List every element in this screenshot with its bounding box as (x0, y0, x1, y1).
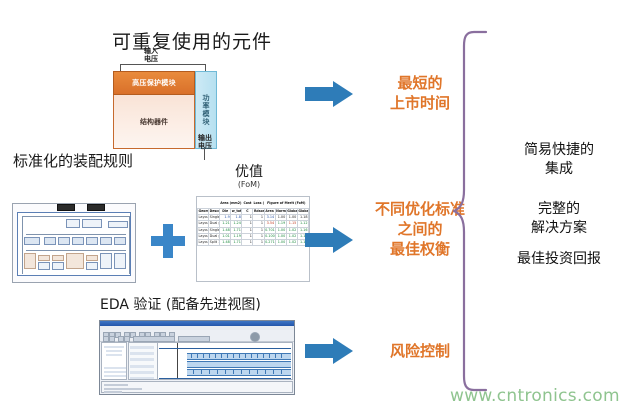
col-global-2: Global (297, 209, 308, 215)
cell: Single-phase high (209, 215, 220, 221)
brace-icon (452, 30, 492, 392)
cell: 1.18 (297, 215, 308, 221)
schematic-thumbnail[interactable] (12, 203, 136, 283)
table-group-header-row: Area (mm2) Cost Loss (mW) Figure of Meri… (198, 197, 309, 209)
fom-table: Area (mm2) Cost Loss (mW) Figure of Meri… (197, 197, 309, 246)
cell: 1.24 (231, 221, 242, 227)
benefit-line: 最佳投资回报 (498, 250, 620, 269)
fom-label: 优值 (FoM) (218, 161, 280, 189)
group-header-fom: Figure of Merit (FoM) (265, 201, 308, 205)
col-geometry: Geometry (198, 209, 209, 215)
cell: 1.71 (231, 227, 242, 233)
benefit-line: 简易快捷的 (498, 141, 620, 160)
cell: Layout 2 (198, 221, 209, 227)
eda-tool-window[interactable] (99, 320, 295, 395)
col-global-1: Global (286, 209, 297, 215)
benefit-line: 解决方案 (498, 219, 620, 238)
cell: 1 (242, 240, 253, 246)
fom-spreadsheet[interactable]: Area (mm2) Cost Loss (mW) Figure of Meri… (196, 196, 310, 282)
benefit-integration: 简易快捷的 集成 (498, 141, 620, 179)
cell: Split 1.23 (209, 240, 220, 246)
arrow-to-tradeoff (305, 227, 353, 253)
summary-brace (452, 30, 492, 392)
group-header-cost: Cost (242, 201, 252, 205)
schematic-connector-left (57, 204, 75, 211)
cell: Dual ph. (209, 221, 220, 227)
cell: 0.701 (264, 227, 275, 233)
arrow-to-time-to-market (305, 81, 353, 107)
plus-icon (151, 224, 185, 258)
cell: 1.00 (275, 240, 286, 246)
col-wtot: w_tot (231, 209, 242, 215)
cell: 1.02 (286, 240, 297, 246)
eda-toolbar (100, 330, 294, 342)
eda-hierarchy-panel[interactable] (101, 342, 127, 380)
col-area: Area (264, 209, 275, 215)
power-module-label: 功率模块 (201, 94, 211, 126)
cell: 0.271 (264, 240, 275, 246)
site-watermark: www.cntronics.com (450, 386, 620, 406)
cell: 1.71 (231, 240, 242, 246)
structural-component-module: 结构器件 (113, 95, 195, 149)
col-description: Description (209, 209, 220, 215)
input-voltage-label: 输入 电压 (133, 47, 169, 63)
cell: 1 (253, 240, 264, 246)
benefit-solution: 完整的 解决方案 (498, 200, 620, 238)
cell: Single ph. 1.23 (209, 227, 220, 233)
cell: 0.100 (264, 233, 275, 239)
col-normal: Normal (275, 209, 286, 215)
cell: 1.48 (220, 240, 231, 246)
col-rdson: Rdson (253, 209, 264, 215)
table-header-row: Geometry Description Die w_tot C Rdson A… (198, 209, 309, 215)
cell: 1.19 (231, 233, 242, 239)
eda-signal-names (129, 343, 158, 379)
output-voltage-line1: 输出 (198, 134, 212, 142)
group-header-area: Area (mm2) (220, 201, 241, 205)
eda-status-panel (101, 381, 293, 393)
slide-canvas: 可重复使用的元件 输入 电压 高压保护模块 结构器件 功率模块 输出 电压 标准… (0, 0, 626, 415)
cell: 1.48 (220, 227, 231, 233)
output-voltage-label: 输出 电压 (188, 134, 222, 150)
schematic-connector-right (87, 204, 105, 211)
cell: Layout 5 (198, 240, 209, 246)
hv-protection-module: 高压保护模块 (113, 71, 195, 95)
cell: Dual ph. 1.23 (209, 233, 220, 239)
benefit-line: 完整的 (498, 200, 620, 219)
output-voltage-line2: 电压 (198, 142, 212, 150)
table-row: Layout 5 Split 1.23 1.48 1.71 1 1 0.271 … (198, 240, 309, 246)
cell: Layout 1 (198, 215, 209, 221)
input-voltage-line1: 输入 (144, 47, 158, 55)
eda-waveform-panel[interactable] (128, 342, 293, 380)
cell: Layout 3 (198, 227, 209, 233)
assembly-rules-label: 标准化的装配规则 (13, 150, 133, 171)
schematic-frame (17, 212, 131, 276)
fom-title: 优值 (235, 164, 263, 180)
eda-verification-label: EDA 验证 (配备先进视图) (100, 294, 261, 314)
benefit-line: 集成 (498, 160, 620, 179)
arrow-to-risk-control (305, 338, 353, 364)
group-header-loss: Loss (mW) (253, 201, 263, 205)
cell: Layout 4 (198, 233, 209, 239)
fom-subtitle: (FoM) (218, 180, 280, 189)
output-tick (204, 149, 205, 160)
benefit-roi: 最佳投资回报 (498, 250, 620, 269)
cell: 1.01 (220, 233, 231, 239)
input-voltage-line2: 电压 (144, 55, 158, 63)
cell: 1.21 (220, 221, 231, 227)
